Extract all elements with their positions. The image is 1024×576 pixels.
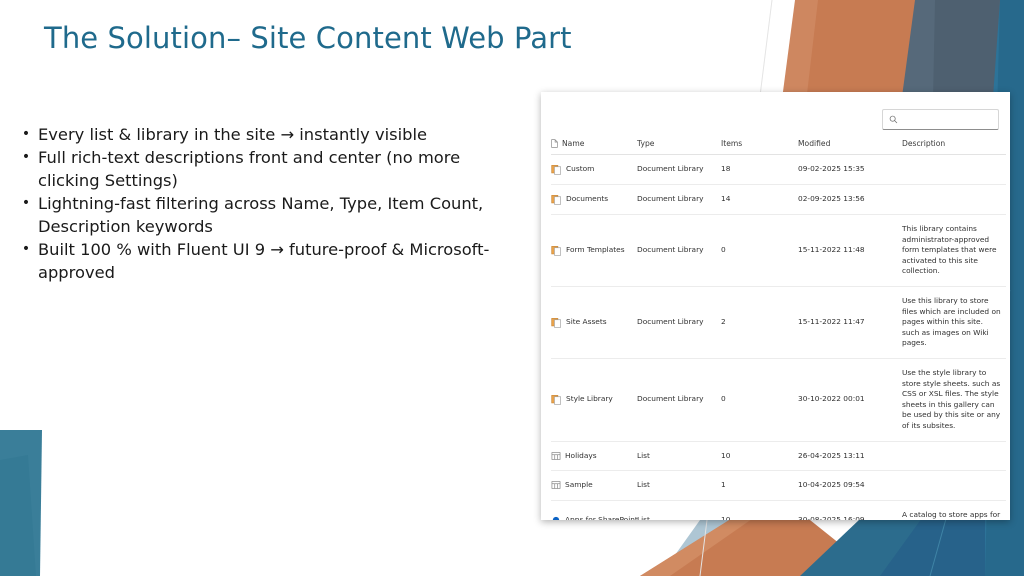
cell-name: Site Assets bbox=[551, 286, 637, 358]
cell-type: List bbox=[637, 441, 721, 471]
cell-items: 0 bbox=[721, 215, 798, 287]
search-input[interactable] bbox=[898, 115, 990, 124]
search-box[interactable] bbox=[882, 109, 999, 130]
column-header-items[interactable]: Items bbox=[721, 136, 798, 155]
cell-type: List bbox=[637, 500, 721, 520]
cell-modified: 30-08-2025 16:09 bbox=[798, 500, 902, 520]
cell-modified: 26-04-2025 13:11 bbox=[798, 441, 902, 471]
page-title: The Solution– Site Content Web Part bbox=[44, 21, 572, 55]
cell-modified: 10-04-2025 09:54 bbox=[798, 471, 902, 501]
column-header-name-label: Name bbox=[562, 139, 584, 148]
table-row[interactable]: Form Templates Document Library 0 15-11-… bbox=[551, 215, 1006, 287]
cell-description bbox=[902, 441, 1006, 471]
table-row[interactable]: Documents Document Library 14 02-09-2025… bbox=[551, 185, 1006, 215]
cell-name: Sample bbox=[551, 471, 637, 501]
row-name-label: Documents bbox=[566, 194, 608, 205]
list-item: • Every list & library in the site → ins… bbox=[14, 123, 514, 146]
bullet-text: Full rich-text descriptions front and ce… bbox=[38, 146, 514, 192]
cell-description bbox=[902, 155, 1006, 185]
bullet-dot-icon: • bbox=[14, 146, 38, 169]
cell-description: This library contains administrator-appr… bbox=[902, 215, 1006, 287]
row-name-label: Site Assets bbox=[566, 317, 607, 328]
cell-description bbox=[902, 471, 1006, 501]
cell-items: 14 bbox=[721, 185, 798, 215]
cell-items: 10 bbox=[721, 441, 798, 471]
site-content-table: Name Type Items Modified Description bbox=[551, 136, 1006, 520]
table-row[interactable]: Style Library Document Library 0 30-10-2… bbox=[551, 358, 1006, 441]
row-name-label: Form Templates bbox=[566, 245, 625, 256]
cell-description: Use this library to store files which ar… bbox=[902, 286, 1006, 358]
cell-name: Form Templates bbox=[551, 215, 637, 287]
column-header-type[interactable]: Type bbox=[637, 136, 721, 155]
cell-items: 0 bbox=[721, 358, 798, 441]
document-library-icon bbox=[551, 245, 562, 256]
cell-type: Document Library bbox=[637, 155, 721, 185]
cell-modified: 02-09-2025 13:56 bbox=[798, 185, 902, 215]
table-row[interactable]: Custom Document Library 18 09-02-2025 15… bbox=[551, 155, 1006, 185]
bullet-dot-icon: • bbox=[14, 238, 38, 261]
site-content-web-part-card: Name Type Items Modified Description bbox=[541, 92, 1010, 520]
document-library-icon bbox=[551, 317, 562, 328]
cell-items: 1 bbox=[721, 471, 798, 501]
column-header-name[interactable]: Name bbox=[551, 136, 637, 155]
column-header-description[interactable]: Description bbox=[902, 136, 1006, 155]
column-header-modified[interactable]: Modified bbox=[798, 136, 902, 155]
cell-name: Custom bbox=[551, 155, 637, 185]
list-item: • Full rich-text descriptions front and … bbox=[14, 146, 514, 192]
table-row[interactable]: Apps for SharePoint List 10 30-08-2025 1… bbox=[551, 500, 1006, 520]
cell-items: 18 bbox=[721, 155, 798, 185]
row-name-label: Custom bbox=[566, 164, 594, 175]
table-row[interactable]: Sample List 1 10-04-2025 09:54 bbox=[551, 471, 1006, 501]
list-item: • Lightning-fast filtering across Name, … bbox=[14, 192, 514, 238]
search-icon bbox=[889, 115, 898, 124]
document-library-icon bbox=[551, 194, 562, 205]
list-item: • Built 100 % with Fluent UI 9 → future-… bbox=[14, 238, 514, 284]
cell-type: List bbox=[637, 471, 721, 501]
cell-name: Holidays bbox=[551, 441, 637, 471]
bullet-dot-icon: • bbox=[14, 123, 38, 146]
row-name-label: Apps for SharePoint bbox=[565, 515, 638, 520]
cell-modified: 30-10-2022 00:01 bbox=[798, 358, 902, 441]
cell-description: Use the style library to store style she… bbox=[902, 358, 1006, 441]
bullet-text: Lightning-fast filtering across Name, Ty… bbox=[38, 192, 514, 238]
app-catalog-icon bbox=[551, 515, 561, 520]
cell-name: Style Library bbox=[551, 358, 637, 441]
bullet-list: • Every list & library in the site → ins… bbox=[14, 123, 514, 284]
cell-name: Apps for SharePoint bbox=[551, 500, 637, 520]
document-library-icon bbox=[551, 164, 562, 175]
cell-items: 2 bbox=[721, 286, 798, 358]
bullet-text: Built 100 % with Fluent UI 9 → future-pr… bbox=[38, 238, 514, 284]
search-row bbox=[882, 109, 999, 130]
table-row[interactable]: Site Assets Document Library 2 15-11-202… bbox=[551, 286, 1006, 358]
cell-modified: 09-02-2025 15:35 bbox=[798, 155, 902, 185]
list-icon bbox=[551, 451, 561, 461]
cell-type: Document Library bbox=[637, 215, 721, 287]
cell-type: Document Library bbox=[637, 185, 721, 215]
cell-type: Document Library bbox=[637, 286, 721, 358]
table-row[interactable]: Holidays List 10 26-04-2025 13:11 bbox=[551, 441, 1006, 471]
bullet-text: Every list & library in the site → insta… bbox=[38, 123, 514, 146]
row-name-label: Holidays bbox=[565, 451, 597, 462]
cell-type: Document Library bbox=[637, 358, 721, 441]
cell-modified: 15-11-2022 11:48 bbox=[798, 215, 902, 287]
cell-description: A catalog to store apps for SharePoint bbox=[902, 500, 1006, 520]
row-name-label: Sample bbox=[565, 480, 593, 491]
document-library-icon bbox=[551, 394, 562, 405]
page-icon bbox=[551, 139, 558, 148]
bullet-dot-icon: • bbox=[14, 192, 38, 215]
cell-modified: 15-11-2022 11:47 bbox=[798, 286, 902, 358]
table-header-row: Name Type Items Modified Description bbox=[551, 136, 1006, 155]
list-icon bbox=[551, 480, 561, 490]
row-name-label: Style Library bbox=[566, 394, 613, 405]
cell-items: 10 bbox=[721, 500, 798, 520]
cell-description bbox=[902, 185, 1006, 215]
cell-name: Documents bbox=[551, 185, 637, 215]
